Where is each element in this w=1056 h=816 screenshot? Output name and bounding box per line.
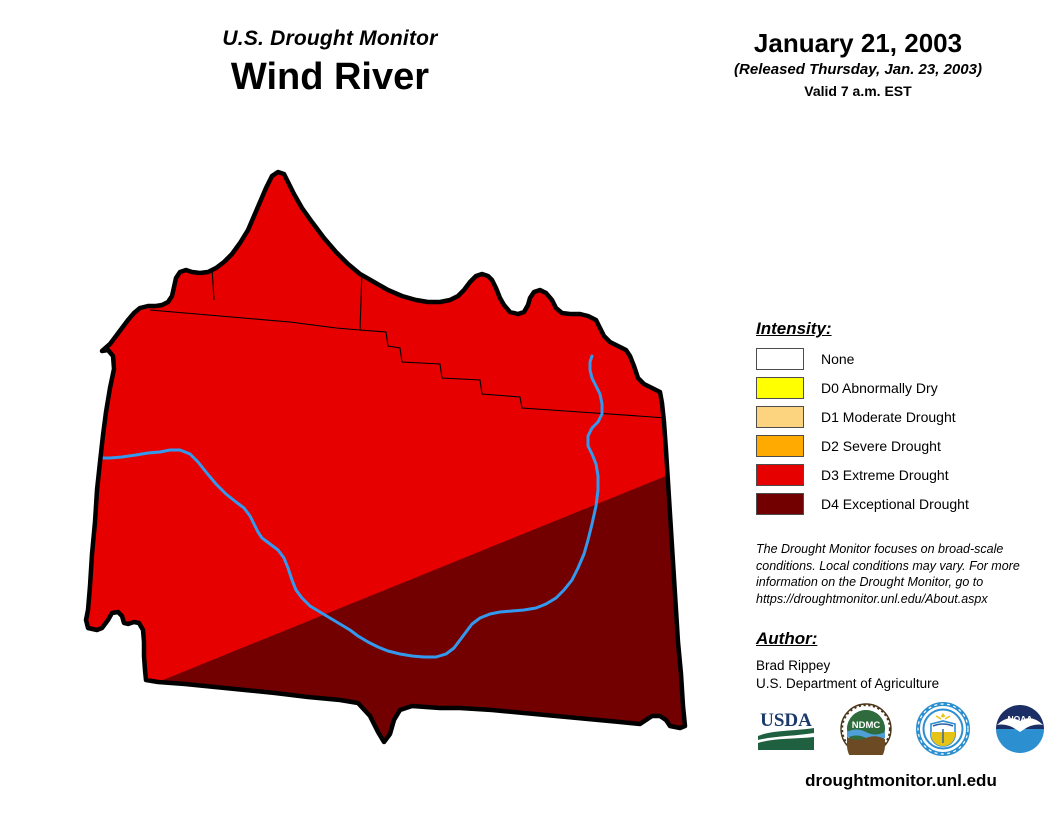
legend-label-d2: D2 Severe Drought [821,437,941,455]
svg-text:NOAA: NOAA [1007,714,1032,724]
footer-url[interactable]: droughtmonitor.unl.edu [756,770,1046,792]
legend-panel: Intensity: None D0 Abnormally Dry D1 Mod… [756,318,1046,522]
disclaimer-url[interactable]: https://droughtmonitor.unl.edu/About.asp… [756,591,1024,608]
legend-item-none[interactable]: None [756,348,1046,370]
svg-text:USDA: USDA [760,710,812,731]
legend-item-d1[interactable]: D1 Moderate Drought [756,406,1046,428]
page-title: Wind River [0,54,660,100]
usda-seal-logo[interactable] [916,702,970,761]
legend-title: Intensity: [756,318,1046,340]
svg-text:NDMC: NDMC [852,720,881,731]
author-name: Brad Rippey [756,657,1036,675]
legend-swatch-d2 [756,435,804,457]
legend-label-none: None [821,350,854,368]
map-svg[interactable] [40,150,740,800]
legend-swatch-none [756,348,804,370]
legend-item-d0[interactable]: D0 Abnormally Dry [756,377,1046,399]
date-block: January 21, 2003 (Released Thursday, Jan… [660,28,1056,101]
disclaimer-line-3: information on the Drought Monitor, go t… [756,574,1024,591]
legend-swatch-d3 [756,464,804,486]
legend-swatch-d0 [756,377,804,399]
program-title: U.S. Drought Monitor [0,26,660,52]
usda-logo[interactable]: USDA [756,706,816,757]
legend-label-d4: D4 Exceptional Drought [821,495,969,513]
logo-row: USDA NDMC [756,700,1046,762]
legend-item-d4[interactable]: D4 Exceptional Drought [756,493,1046,515]
legend-label-d1: D1 Moderate Drought [821,408,956,426]
valid-date: January 21, 2003 [660,28,1056,59]
valid-time: Valid 7 a.m. EST [660,82,1056,101]
author-organization: U.S. Department of Agriculture [756,675,1036,693]
disclaimer-line-1: The Drought Monitor focuses on broad-sca… [756,541,1024,558]
disclaimer-line-2: conditions. Local conditions may vary. F… [756,558,1024,575]
title-block: U.S. Drought Monitor Wind River [0,26,660,100]
legend-swatch-d1 [756,406,804,428]
noaa-logo[interactable]: NOAA [994,703,1046,760]
author-block: Author: Brad Rippey U.S. Department of A… [756,628,1036,693]
legend-item-d3[interactable]: D3 Extreme Drought [756,464,1046,486]
legend-item-d2[interactable]: D2 Severe Drought [756,435,1046,457]
legend-swatch-d4 [756,493,804,515]
disclaimer-text: The Drought Monitor focuses on broad-sca… [756,541,1024,607]
drought-map[interactable] [40,150,740,800]
released-date: (Released Thursday, Jan. 23, 2003) [660,60,1056,80]
legend-label-d0: D0 Abnormally Dry [821,379,938,397]
ndmc-logo[interactable]: NDMC [840,703,892,760]
legend-label-d3: D3 Extreme Drought [821,466,949,484]
author-title: Author: [756,628,1036,650]
